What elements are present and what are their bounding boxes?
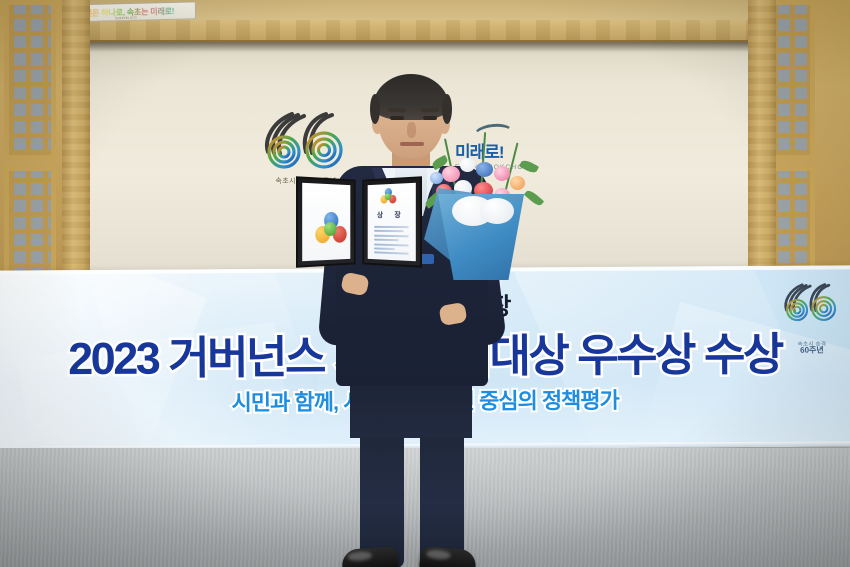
certificate-page-inner: 상 장 [368,183,416,261]
wall-panel-shadow [72,42,780,52]
certificate-emblem-icon [381,188,397,205]
photo-scene: 시민은 하나로, 속초는 미래로! SOKCHO CITY [0,0,850,567]
ceiling-beam [56,20,796,42]
banner-anniversary-logo-icon: 속초시 승격 60주년 [780,277,844,351]
certificate-title: 상 장 [368,210,416,220]
lattice-door-left [0,0,70,290]
lattice-panel [4,0,56,160]
certificate-page-right: 상 장 [362,176,422,268]
eye-right [423,116,437,120]
hair [373,74,449,120]
nose [407,122,416,138]
certificate-body-lines [374,226,409,258]
certificate-cover-inner [302,183,350,261]
city-emblem-icon [315,212,347,244]
door-jamb-left [62,0,90,290]
banner-logo-caption-big: 60주년 [780,344,844,355]
flower-bouquet [424,132,544,272]
certificate-cover-left [296,176,356,268]
eye-left [390,116,404,120]
banner-60-svg [780,277,844,327]
door-jamb-right [748,0,776,290]
award-certificate: 상 장 [296,178,426,268]
lattice-door-right [768,0,850,290]
ceiling-slogan-subtext: SOKCHO CITY [115,16,137,21]
mouth [400,142,424,146]
